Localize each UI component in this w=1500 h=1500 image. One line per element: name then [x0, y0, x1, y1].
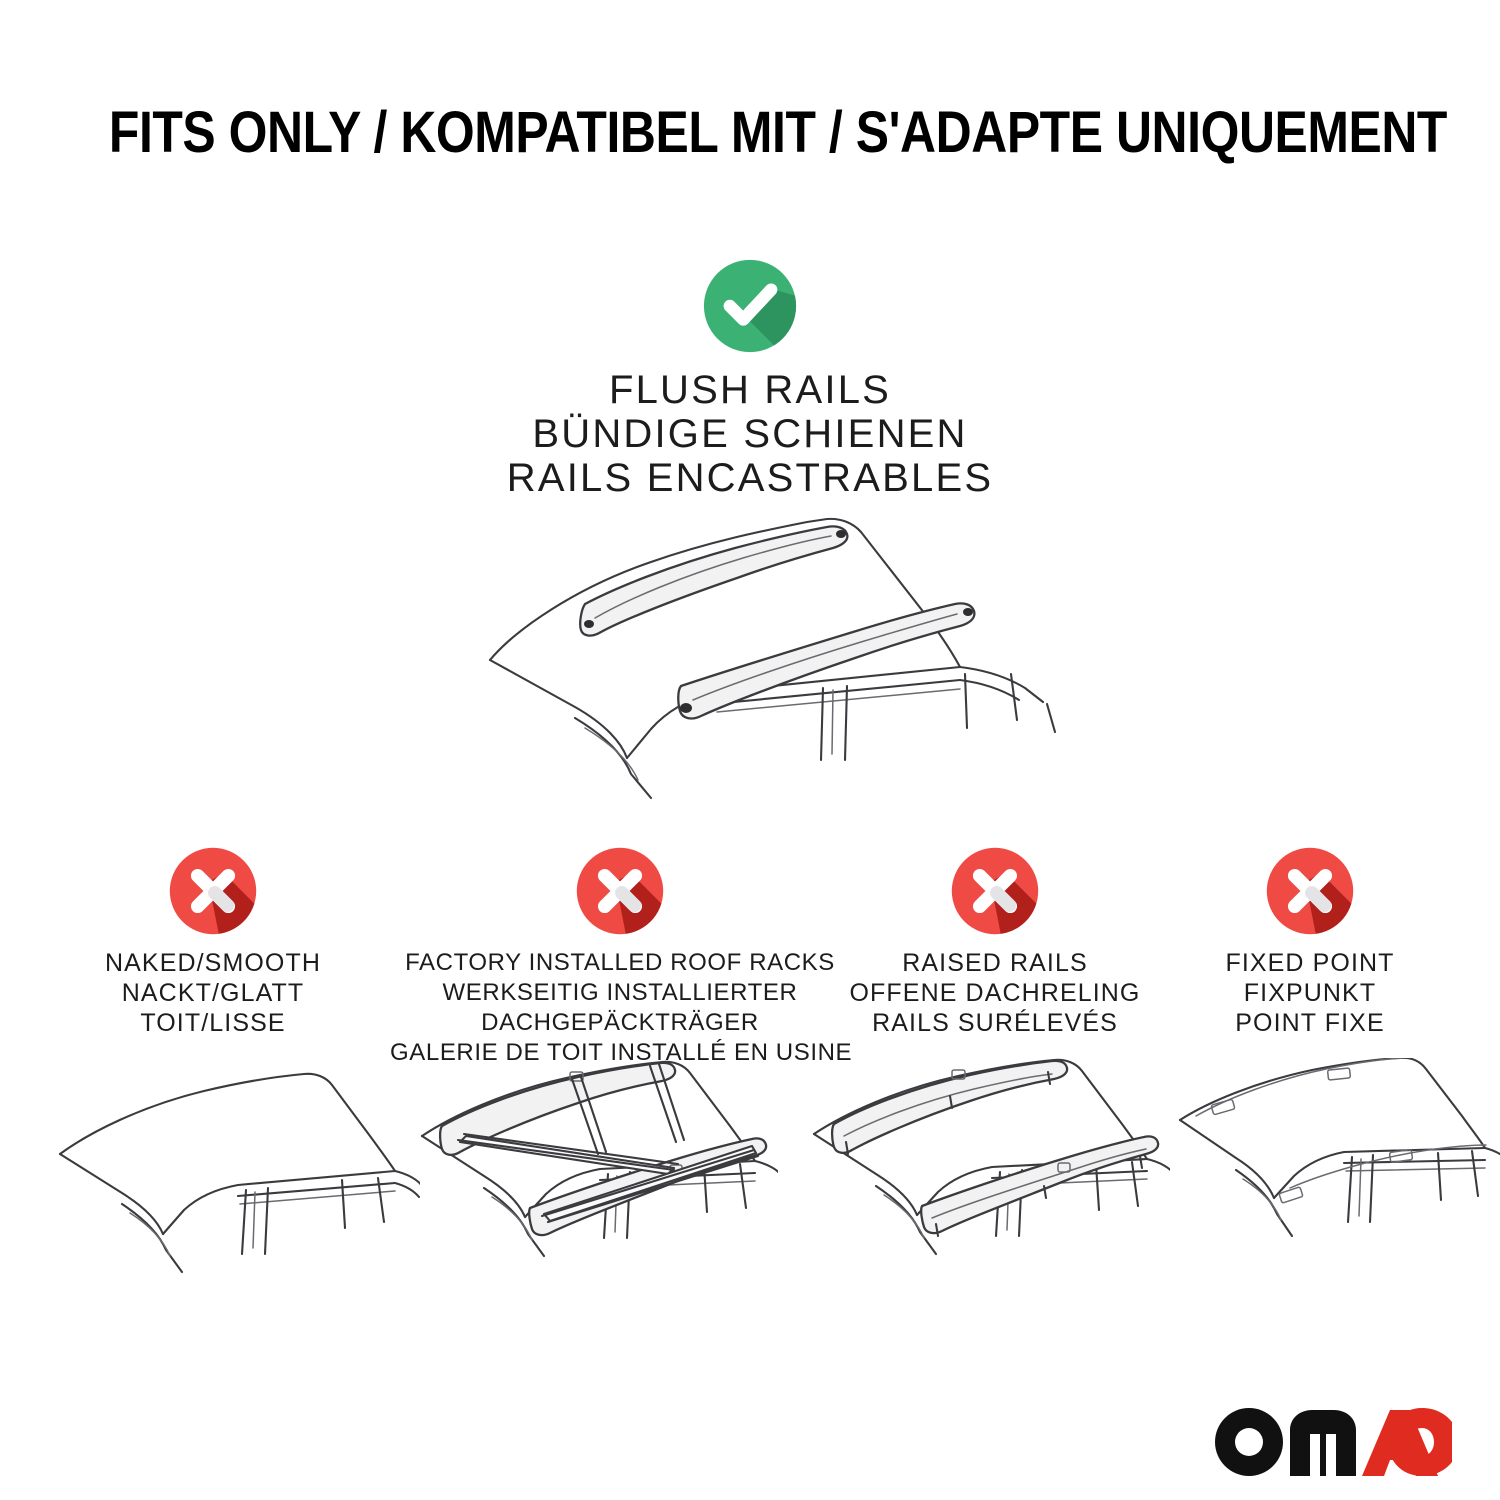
incompatible-labels: RAISED RAILS OFFENE DACHRELING RAILS SUR… [845, 948, 1145, 1038]
red-cross-circle-icon [950, 846, 1040, 936]
car-roof-fixed-point-illustration [1170, 1058, 1500, 1298]
incompatible-item-naked-smooth: NAKED/SMOOTH NACKT/GLATT TOIT/LISSE [48, 846, 378, 1038]
red-cross-circle-icon [575, 846, 665, 936]
compatible-labels: FLUSH RAILS BÜNDIGE SCHIENEN RAILS ENCAS… [0, 368, 1500, 500]
label-de-1: WERKSEITIG INSTALLIERTER [390, 978, 850, 1008]
red-cross-circle-icon [168, 846, 258, 936]
label-en: FIXED POINT [1165, 948, 1455, 978]
car-roof-naked-smooth-illustration [50, 1058, 420, 1298]
roof-illustrations-row [0, 1058, 1500, 1298]
compatible-label-en: FLUSH RAILS [0, 368, 1500, 412]
logo-letter-m [1290, 1410, 1356, 1476]
compatible-section: FLUSH RAILS BÜNDIGE SCHIENEN RAILS ENCAS… [0, 258, 1500, 500]
incompatible-section: NAKED/SMOOTH NACKT/GLATT TOIT/LISSE FACT… [0, 846, 1500, 1076]
car-roof-factory-roof-racks-illustration [408, 1058, 778, 1298]
incompatible-item-fixed-point: FIXED POINT FIXPUNKT POINT FIXE [1165, 846, 1455, 1038]
green-check-circle-icon [702, 258, 798, 354]
label-en: RAISED RAILS [845, 948, 1145, 978]
red-cross-circle-icon [1265, 846, 1355, 936]
label-en: FACTORY INSTALLED ROOF RACKS [390, 948, 850, 978]
incompatible-labels: NAKED/SMOOTH NACKT/GLATT TOIT/LISSE [48, 948, 378, 1038]
page-title-text: FITS ONLY / KOMPATIBEL MIT / S'ADAPTE UN… [109, 104, 1447, 162]
incompatible-item-raised-rails: RAISED RAILS OFFENE DACHRELING RAILS SUR… [845, 846, 1145, 1038]
compatible-label-de: BÜNDIGE SCHIENEN [0, 412, 1500, 456]
label-en: NAKED/SMOOTH [48, 948, 378, 978]
incompatible-labels: FACTORY INSTALLED ROOF RACKS WERKSEITIG … [390, 948, 850, 1068]
incompatible-item-factory-roof-racks: FACTORY INSTALLED ROOF RACKS WERKSEITIG … [390, 846, 850, 1068]
label-fr: TOIT/LISSE [48, 1008, 378, 1038]
incompatible-labels: FIXED POINT FIXPUNKT POINT FIXE [1165, 948, 1455, 1038]
label-fr: POINT FIXE [1165, 1008, 1455, 1038]
label-de: NACKT/GLATT [48, 978, 378, 1008]
label-fr: RAILS SURÉLEVÉS [845, 1008, 1145, 1038]
car-roof-flush-rails-illustration [455, 492, 1065, 812]
page-title: FITS ONLY / KOMPATIBEL MIT / S'ADAPTE UN… [0, 104, 1500, 162]
logo-letter-o [1215, 1408, 1283, 1476]
omac-logo-mark [1212, 1404, 1452, 1478]
omac-logo [1212, 1404, 1452, 1478]
label-de-2: DACHGEPÄCKTRÄGER [390, 1008, 850, 1038]
label-de: OFFENE DACHRELING [845, 978, 1145, 1008]
label-de: FIXPUNKT [1165, 978, 1455, 1008]
car-roof-raised-rails-illustration [800, 1058, 1170, 1298]
